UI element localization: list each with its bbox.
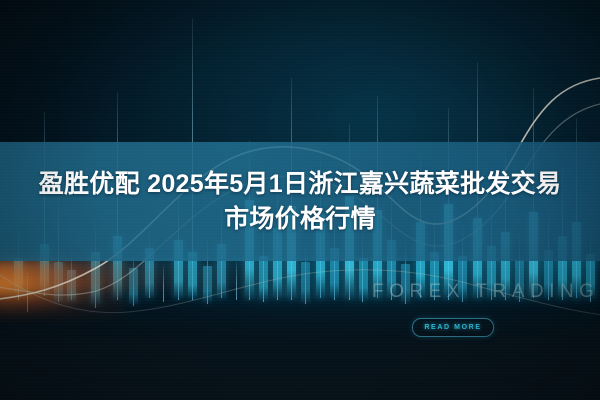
- vignette-overlay: [0, 0, 600, 400]
- forex-banner-image: 盈胜优配 2025年5月1日浙江嘉兴蔬菜批发交易 市场价格行情 FOREX TR…: [0, 0, 600, 400]
